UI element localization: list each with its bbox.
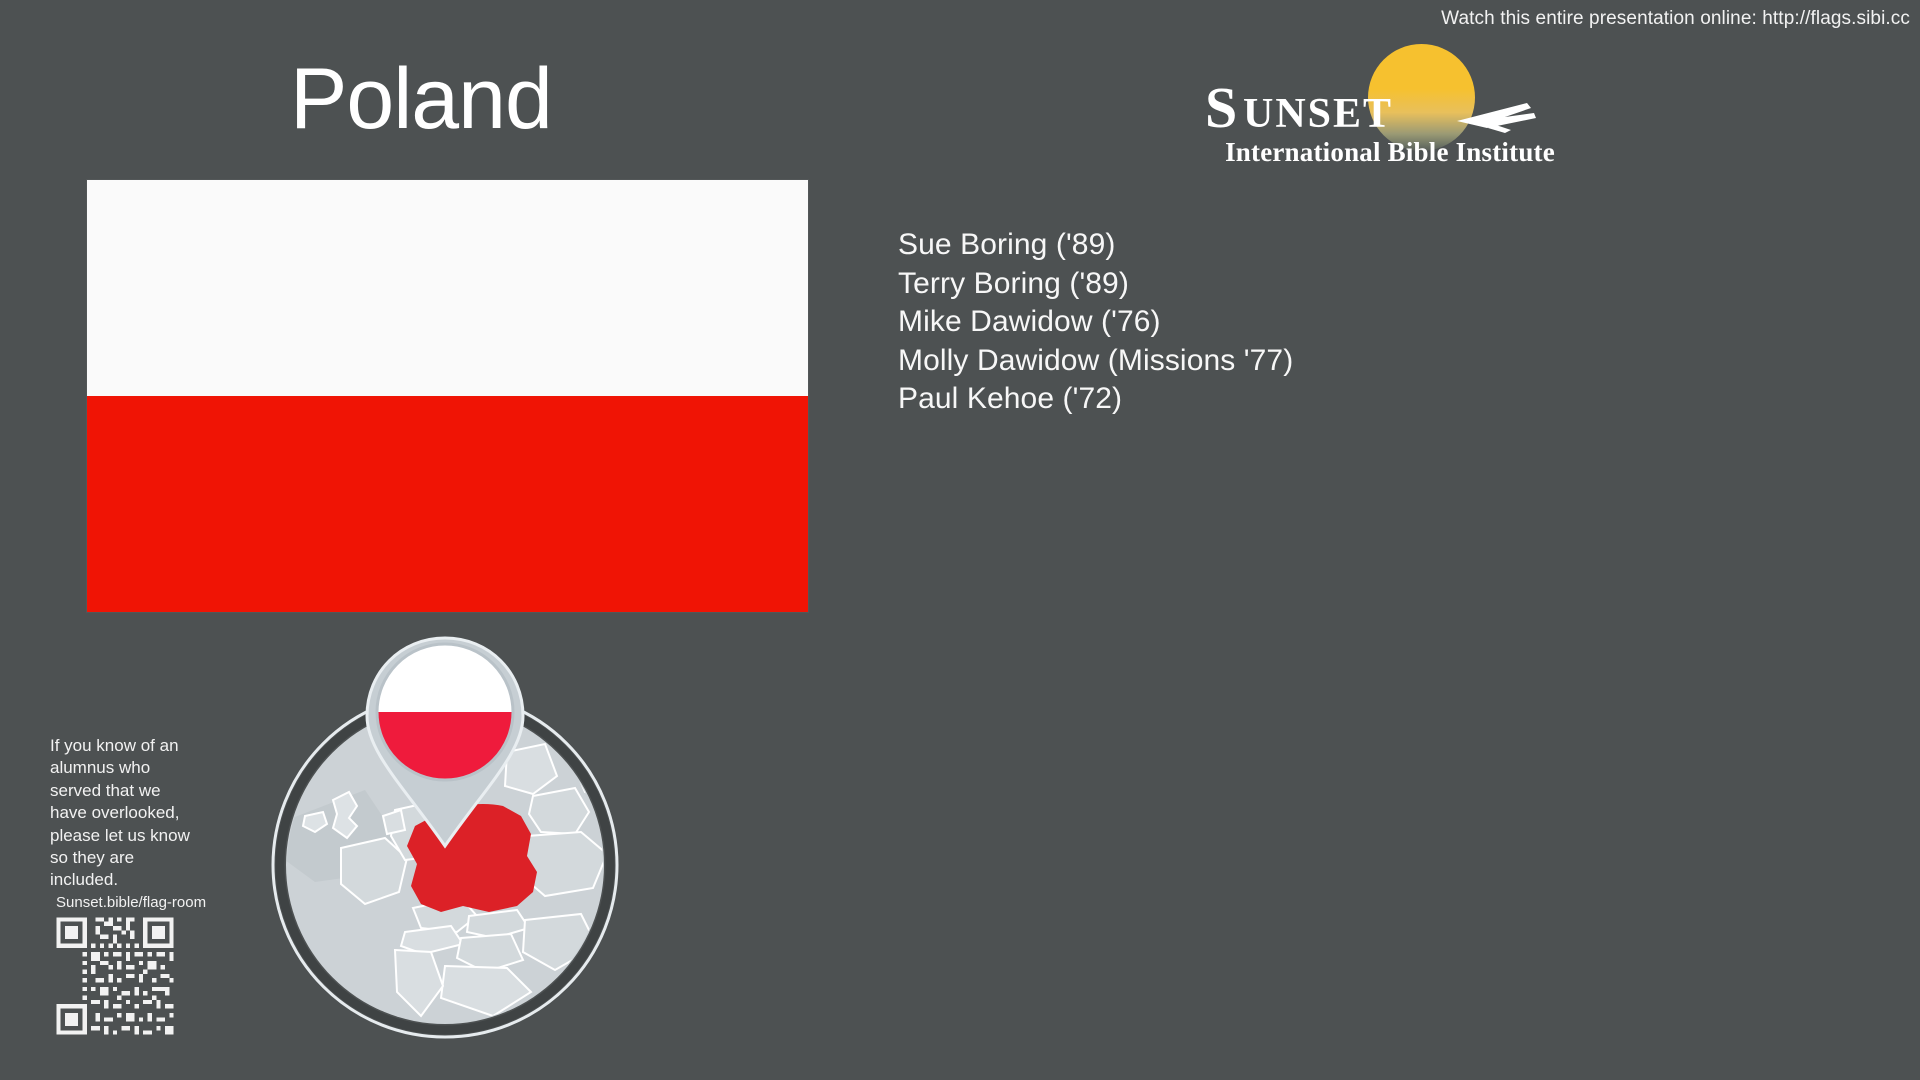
list-item: Paul Kehoe ('72) xyxy=(898,380,1658,419)
svg-text:UNSET: UNSET xyxy=(1243,91,1393,137)
flag-white-stripe xyxy=(87,180,808,396)
page-title: Poland xyxy=(290,48,552,150)
presentation-url-banner: Watch this entire presentation online: h… xyxy=(1441,6,1910,32)
poland-location-map xyxy=(245,620,645,1060)
swoosh-icon xyxy=(1457,103,1536,133)
list-item: Sue Boring ('89) xyxy=(898,226,1658,265)
qr-code[interactable] xyxy=(52,913,178,1039)
alumni-list: Sue Boring ('89) Terry Boring ('89) Mike… xyxy=(898,226,1658,419)
country-belarus xyxy=(529,788,589,834)
list-item: Molly Dawidow (Missions '77) xyxy=(898,342,1658,381)
poland-flag xyxy=(87,180,808,612)
slide-root: Watch this entire presentation online: h… xyxy=(0,0,1920,1080)
list-item: Terry Boring ('89) xyxy=(898,265,1658,304)
alumni-note: If you know of an alumnus who served tha… xyxy=(50,735,200,892)
flag-red-stripe xyxy=(87,396,808,612)
sunset-logo: S UNSET International Bible Institute xyxy=(1205,44,1575,184)
qr-caption: Sunset.bible/flag-room xyxy=(56,893,206,913)
svg-text:S: S xyxy=(1205,75,1238,140)
sunset-wordmark: S UNSET xyxy=(1205,75,1575,141)
list-item: Mike Dawidow ('76) xyxy=(898,303,1658,342)
sunset-logo-subtitle: International Bible Institute xyxy=(1205,136,1575,168)
